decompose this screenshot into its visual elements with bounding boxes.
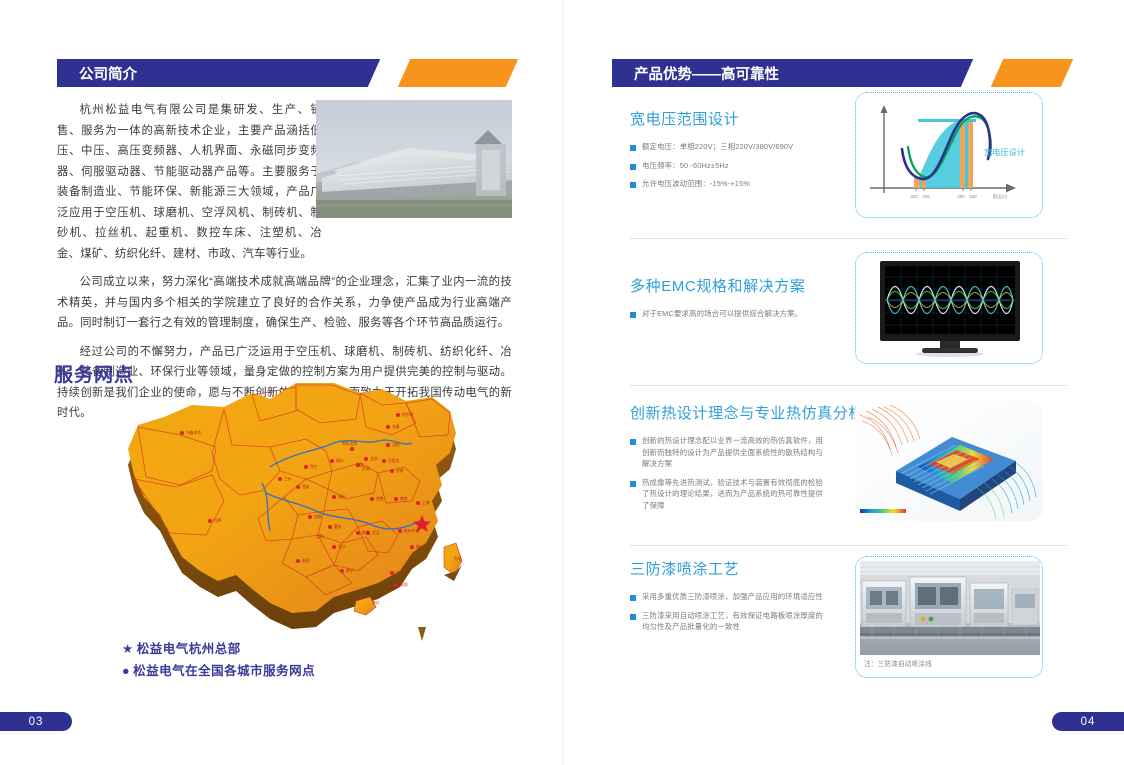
thermal-simulation-panel <box>855 400 1043 522</box>
xaxis-label: 电压(V) <box>993 193 1008 200</box>
svg-text:昆明: 昆明 <box>316 534 324 539</box>
thermal-simulation-image <box>856 401 1043 522</box>
bullet-text: 额定电压：单相220V；三相220V/380V/690V <box>642 141 793 153</box>
bullet-square-icon <box>630 614 636 620</box>
left-page-header: 公司简介 <box>57 59 512 87</box>
china-map: 乌鲁木齐 哈尔滨长春沈阳 呼和浩特北京天津 银川大连石家庄 济南西宁兰州 西安郑… <box>120 375 500 655</box>
legend-label-service: 松益电气在全国各城市服务网点 <box>133 664 315 678</box>
voltage-range-chart-panel: 323 346 480 528 电压(V) 宽电压设计 <box>855 92 1043 218</box>
section-1-bullets: 额定电压：单相220V；三相220V/380V/690V 电压频率：50 -60… <box>630 141 830 190</box>
svg-text:银川: 银川 <box>336 458 344 463</box>
bullet-item: 额定电压：单相220V；三相220V/380V/690V <box>630 141 830 153</box>
svg-text:福州: 福州 <box>416 544 424 549</box>
left-header-title: 公司简介 <box>79 63 137 84</box>
section-divider-2 <box>630 385 1067 386</box>
bullet-text: 创新的热设计理念配以业界一流高效的热仿真软件，用创新而独特的设计为产品提供全面系… <box>642 435 830 470</box>
svg-text:乌鲁木齐: 乌鲁木齐 <box>186 430 201 435</box>
map-legend-headquarters: ★松益电气杭州总部 <box>122 638 241 657</box>
bullet-item: 创新的热设计理念配以业界一流高效的热仿真软件，用创新而独特的设计为产品提供全面系… <box>630 435 830 470</box>
svg-text:广州: 广州 <box>396 570 404 575</box>
svg-text:上海: 上海 <box>422 500 430 505</box>
svg-text:武汉: 武汉 <box>372 530 380 535</box>
svg-text:济南: 济南 <box>396 468 404 473</box>
svg-text:杭州宁波: 杭州宁波 <box>404 528 419 533</box>
company-paragraph-1: 杭州松益电气有限公司是集研发、生产、销售、服务为一体的高新技术企业，主要产品涵括… <box>57 100 322 264</box>
legend-label-hq: 松益电气杭州总部 <box>137 642 241 656</box>
section-divider-3 <box>630 545 1067 546</box>
svg-text:西宁: 西宁 <box>310 464 318 469</box>
bullet-text: 对于EMC要求高的场合可以提供综合解决方案。 <box>642 308 802 320</box>
bullet-item: 对于EMC要求高的场合可以提供综合解决方案。 <box>630 308 830 320</box>
bullet-square-icon <box>630 145 636 151</box>
svg-text:西安: 西安 <box>302 484 310 489</box>
page-number-left-value: 03 <box>29 716 44 728</box>
bullet-square-icon <box>630 439 636 445</box>
svg-text:南宁: 南宁 <box>346 568 354 573</box>
bullet-square-icon <box>630 182 636 188</box>
bullet-square-icon <box>630 312 636 318</box>
page-number-left: 03 <box>0 712 72 731</box>
brochure-spread: 公司简介 杭州松益电气有限公司是集研发、生产、销售、服务为一体的高新技术企业，主… <box>0 0 1124 765</box>
svg-text:台北: 台北 <box>454 556 462 561</box>
star-icon: ★ <box>122 642 134 656</box>
svg-text:长春: 长春 <box>392 424 400 429</box>
xtick-3: 528 <box>969 194 977 199</box>
bullet-square-icon <box>630 481 636 487</box>
svg-text:重庆: 重庆 <box>334 524 342 529</box>
spread-divider <box>562 0 563 765</box>
right-header-bar: 产品优势——高可靠性 <box>612 59 982 87</box>
bullet-square-icon <box>630 595 636 601</box>
bullet-item: 三防漆采用自动喷涂工艺，有效保证电路板喷涂厚度的均匀性及产品批量化的一致性 <box>630 610 830 633</box>
emc-waveform-monitor <box>856 253 1043 364</box>
svg-text:贵阳: 贵阳 <box>302 558 310 563</box>
svg-text:南京: 南京 <box>400 496 408 501</box>
bullet-square-icon <box>630 164 636 170</box>
bullet-item: 采用多重优质三防漆喷涂，加强产品应用的环境适应性 <box>630 591 830 603</box>
chart-annotation: 宽电压设计 <box>984 147 1025 157</box>
left-header-bar: 公司简介 <box>57 59 389 87</box>
svg-text:哈尔滨: 哈尔滨 <box>402 412 414 417</box>
bullet-item: 电压频率：50 -60Hz±5Hz <box>630 160 830 172</box>
factory-photo <box>316 100 512 218</box>
right-header-title: 产品优势——高可靠性 <box>634 63 779 84</box>
map-legend-service-points: ●松益电气在全国各城市服务网点 <box>122 660 315 679</box>
voltage-range-chart: 323 346 480 528 电压(V) 宽电压设计 <box>856 93 1043 218</box>
bullet-text: 电压频率：50 -60Hz±5Hz <box>642 160 729 172</box>
bullet-text: 热成像等先进热测试，验证技术与装置有效彻底的检验了热设计的理论结果，进而为产品系… <box>642 477 830 512</box>
coating-photo-caption: 注：三防漆自动喷涂线 <box>864 658 932 668</box>
svg-text:海口: 海口 <box>372 600 380 605</box>
coating-line-panel: 注：三防漆自动喷涂线 <box>855 556 1043 678</box>
svg-text:石家庄: 石家庄 <box>388 458 400 463</box>
svg-text:深圳: 深圳 <box>400 582 408 587</box>
svg-text:北京: 北京 <box>370 456 378 461</box>
page-number-right: 04 <box>1052 712 1124 731</box>
section-3-bullets: 创新的热设计理念配以业界一流高效的热仿真软件，用创新而独特的设计为产品提供全面系… <box>630 435 830 511</box>
page-number-right-value: 04 <box>1081 716 1096 728</box>
bullet-item: 允许电压波动范围：-15%-+15% <box>630 178 830 190</box>
bullet-item: 热成像等先进热测试，验证技术与装置有效彻底的检验了热设计的理论结果，进而为产品系… <box>630 477 830 512</box>
section-4-bullets: 采用多重优质三防漆喷涂，加强产品应用的环境适应性 三防漆采用自动喷涂工艺，有效保… <box>630 591 830 633</box>
section-2-bullets: 对于EMC要求高的场合可以提供综合解决方案。 <box>630 308 830 320</box>
coating-line-photo <box>860 561 1040 655</box>
bullet-text: 允许电压波动范围：-15%-+15% <box>642 178 750 190</box>
svg-text:合肥: 合肥 <box>376 496 384 501</box>
xtick-0: 323 <box>910 194 918 199</box>
bullet-text: 采用多重优质三防漆喷涂，加强产品应用的环境适应性 <box>642 591 823 603</box>
xtick-2: 480 <box>957 194 965 199</box>
svg-text:拉萨: 拉萨 <box>214 518 222 523</box>
svg-text:大连: 大连 <box>356 462 364 467</box>
svg-text:成都: 成都 <box>314 514 322 519</box>
svg-text:南昌: 南昌 <box>362 530 370 535</box>
right-page-header: 产品优势——高可靠性 <box>612 59 1067 87</box>
company-paragraph-2: 公司成立以来，努力深化“高端技术成就高端品牌”的企业理念，汇集了业内一流的技术精… <box>57 272 512 334</box>
dot-icon: ● <box>122 664 130 678</box>
svg-text:沈阳: 沈阳 <box>392 442 400 447</box>
svg-text:郑州: 郑州 <box>338 494 346 499</box>
svg-text:兰州: 兰州 <box>284 476 292 481</box>
svg-text:长沙: 长沙 <box>338 544 346 549</box>
svg-text:呼和浩特: 呼和浩特 <box>342 441 357 446</box>
section-divider-1 <box>630 238 1067 239</box>
bullet-text: 三防漆采用自动喷涂工艺，有效保证电路板喷涂厚度的均匀性及产品批量化的一致性 <box>642 610 830 633</box>
emc-monitor-panel <box>855 252 1043 364</box>
xtick-1: 346 <box>922 194 930 199</box>
